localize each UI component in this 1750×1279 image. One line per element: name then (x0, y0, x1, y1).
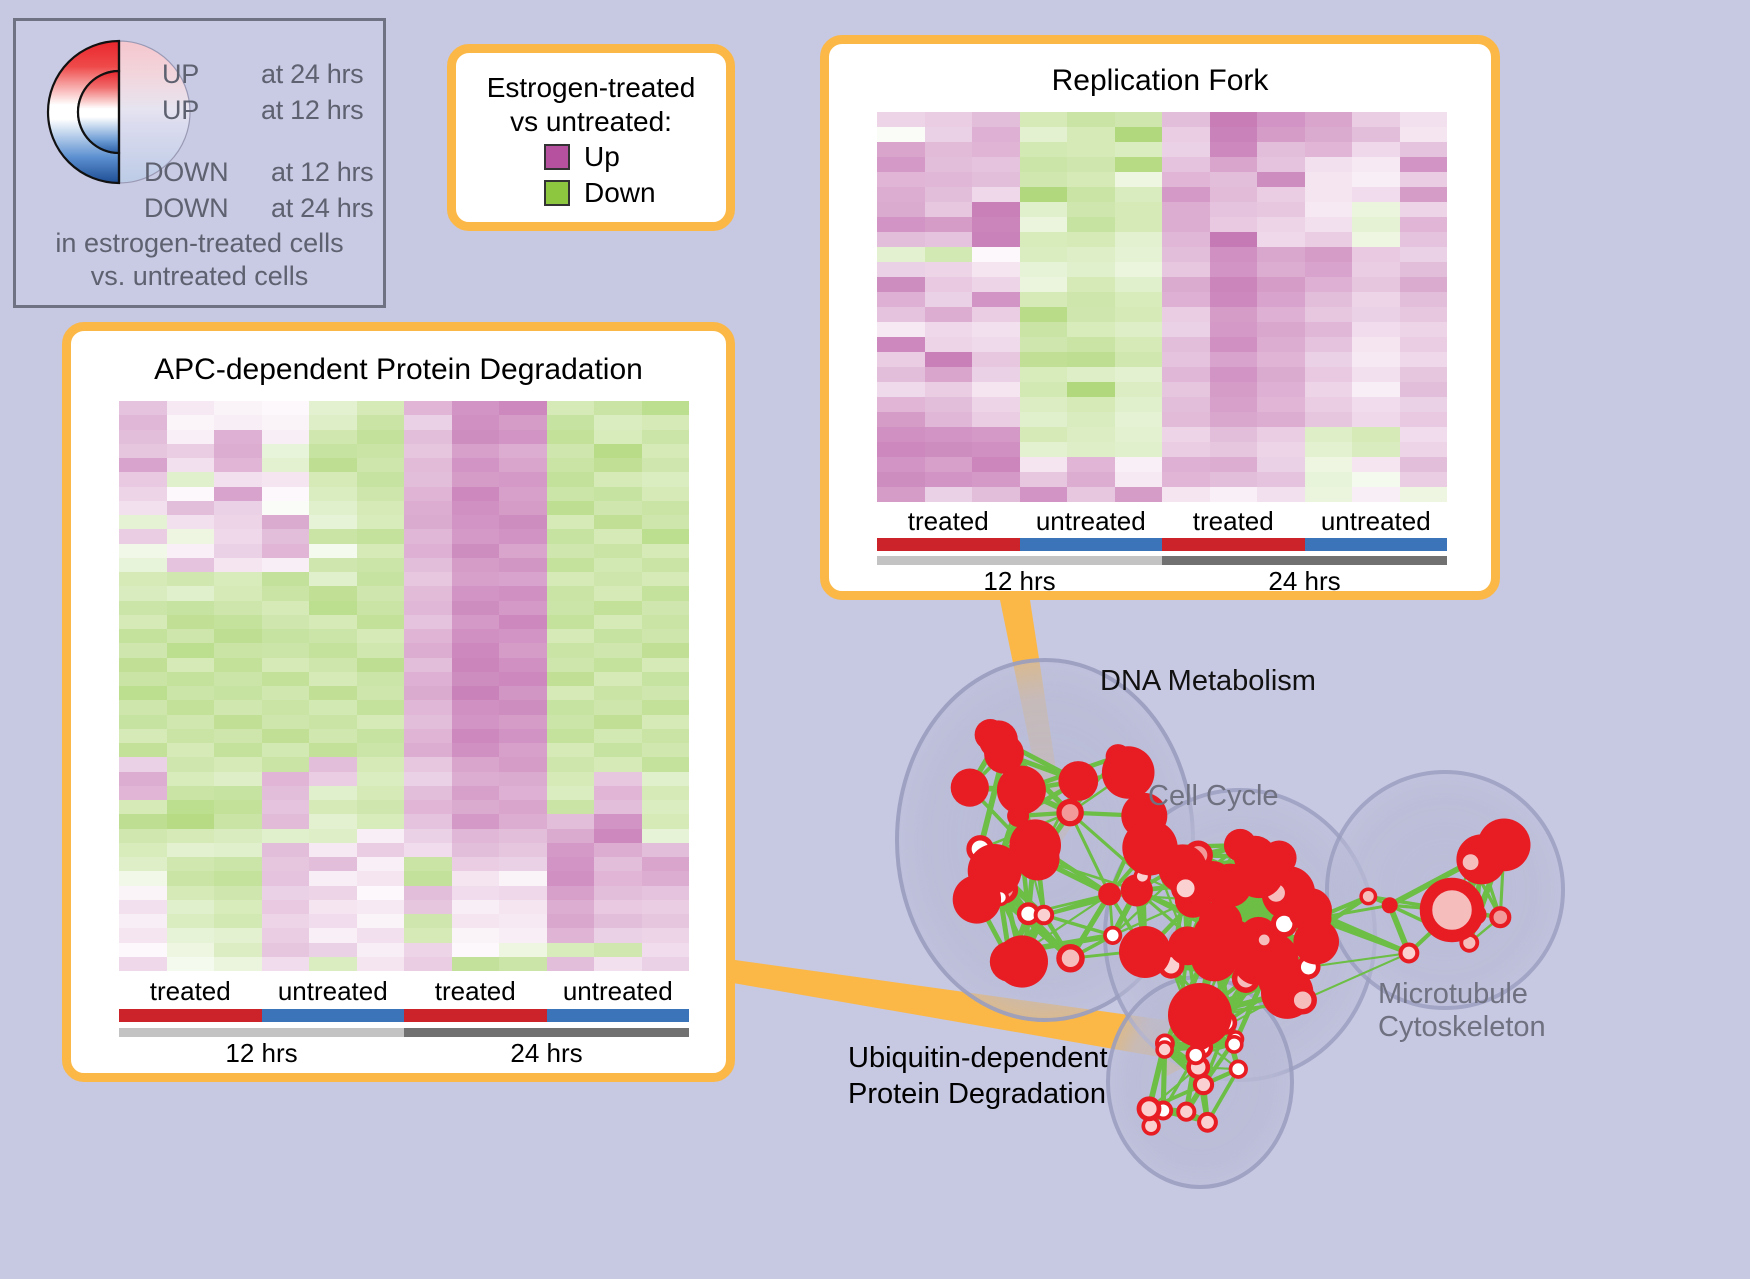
heatmap-cell (262, 515, 310, 529)
heatmap-cell (1067, 307, 1115, 322)
apc-sample-bar (119, 1009, 689, 1022)
sample-group-label: untreated (547, 976, 690, 1007)
heatmap-cell (309, 558, 357, 572)
heatmap-cell (1162, 157, 1210, 172)
heatmap-cell (925, 142, 973, 157)
heatmap-cell (547, 430, 595, 444)
heatmap-cell (1352, 322, 1400, 337)
heatmap-cell (1162, 127, 1210, 142)
heatmap-cell (404, 729, 452, 743)
heatmap-cell (1305, 277, 1353, 292)
heatmap-cell (167, 829, 215, 843)
replication-fork-time-bar (877, 556, 1447, 565)
heatmap-cell (594, 544, 642, 558)
heatmap-cell (262, 572, 310, 586)
heatmap-cell (1210, 307, 1258, 322)
heatmap-cell (1305, 127, 1353, 142)
heatmap-cell (119, 472, 167, 486)
heatmap-cell (119, 871, 167, 885)
heatmap-cell (594, 857, 642, 871)
heatmap-cell (404, 914, 452, 928)
heatmap-cell (119, 843, 167, 857)
heatmap-cell (167, 857, 215, 871)
heatmap-cell (1257, 412, 1305, 427)
heatmap-cell (1257, 202, 1305, 217)
heatmap-cell (1210, 277, 1258, 292)
network-node (1491, 908, 1509, 926)
heatmap-cell (642, 444, 690, 458)
heatmap-cell (594, 928, 642, 942)
heatmap-cell (877, 157, 925, 172)
heatmap-cell (642, 700, 690, 714)
heatmap-cell (594, 871, 642, 885)
sample-group-bar (1162, 538, 1305, 551)
heatmap-cell (262, 772, 310, 786)
sample-group-bar (877, 538, 1020, 551)
heatmap-cell (1305, 322, 1353, 337)
heatmap-cell (1400, 202, 1448, 217)
network-node (1139, 1099, 1159, 1119)
sample-group-bar (1020, 538, 1163, 551)
heatmap-cell (499, 658, 547, 672)
heatmap-cell (309, 529, 357, 543)
heatmap-cell (167, 586, 215, 600)
legend-panel: Estrogen-treated vs untreated: Up Down (447, 44, 735, 231)
heatmap-cell (262, 800, 310, 814)
time-group-label: 12 hrs (119, 1038, 404, 1069)
heatmap-cell (499, 430, 547, 444)
heatmap-cell (309, 715, 357, 729)
heatmap-cell (404, 458, 452, 472)
heatmap-cell (547, 729, 595, 743)
heatmap-cell (594, 601, 642, 615)
heatmap-cell (642, 501, 690, 515)
cluster-label-cell-cycle: Cell Cycle (1148, 780, 1279, 813)
heatmap-cell (404, 643, 452, 657)
heatmap-cell (404, 444, 452, 458)
heatmap-cell (404, 686, 452, 700)
replication-fork-title: Replication Fork (829, 64, 1491, 98)
heatmap-cell (214, 772, 262, 786)
heatmap-cell (119, 857, 167, 871)
heatmap-cell (547, 515, 595, 529)
heatmap-cell (262, 715, 310, 729)
heatmap-cell (119, 643, 167, 657)
heatmap-cell (1115, 277, 1163, 292)
heatmap-cell (1162, 487, 1210, 502)
heatmap-cell (877, 127, 925, 142)
network-node (1119, 926, 1171, 978)
network-node (1007, 805, 1029, 827)
heatmap-cell (1115, 232, 1163, 247)
heatmap-cell (1020, 382, 1068, 397)
heatmap-cell (404, 886, 452, 900)
heatmap-cell (452, 643, 500, 657)
heatmap-cell (877, 142, 925, 157)
heatmap-cell (262, 757, 310, 771)
heatmap-cell (357, 686, 405, 700)
legend-up-label: Up (584, 141, 620, 173)
heatmap-cell (404, 615, 452, 629)
heatmap-cell (357, 914, 405, 928)
heatmap-cell (1400, 307, 1448, 322)
heatmap-cell (972, 352, 1020, 367)
heatmap-cell (404, 800, 452, 814)
heatmap-cell (1352, 487, 1400, 502)
heatmap-cell (452, 529, 500, 543)
heatmap-cell (1257, 442, 1305, 457)
heatmap-cell (357, 586, 405, 600)
heatmap-cell (119, 629, 167, 643)
heatmap-cell (119, 800, 167, 814)
heatmap-cell (119, 458, 167, 472)
heatmap-cell (1210, 292, 1258, 307)
heatmap-cell (357, 772, 405, 786)
heatmap-cell (972, 412, 1020, 427)
heatmap-cell (357, 829, 405, 843)
heatmap-cell (594, 914, 642, 928)
heatmap-cell (1352, 127, 1400, 142)
heatmap-cell (119, 715, 167, 729)
heatmap-cell (547, 928, 595, 942)
heatmap-cell (167, 515, 215, 529)
heatmap-cell (262, 430, 310, 444)
heatmap-cell (1305, 427, 1353, 442)
heatmap-cell (1305, 442, 1353, 457)
heatmap-cell (547, 700, 595, 714)
heatmap-cell (262, 458, 310, 472)
cluster-label-ubiquitin: Ubiquitin-dependent Protein Degradation (848, 1040, 1108, 1112)
heatmap-cell (1162, 277, 1210, 292)
heatmap-cell (1162, 382, 1210, 397)
heatmap-cell (1257, 277, 1305, 292)
heatmap-cell (214, 629, 262, 643)
heatmap-cell (404, 957, 452, 971)
heatmap-cell (452, 572, 500, 586)
replication-fork-heatmap (877, 112, 1447, 502)
network-node (1105, 928, 1120, 943)
heatmap-cell (594, 700, 642, 714)
color-key-box: UP at 24 hrs UP at 12 hrs DOWN at 12 hrs… (13, 18, 386, 308)
heatmap-cell (167, 686, 215, 700)
heatmap-cell (877, 172, 925, 187)
heatmap-cell (594, 672, 642, 686)
network-node (1178, 1104, 1194, 1120)
heatmap-cell (262, 643, 310, 657)
heatmap-cell (404, 415, 452, 429)
heatmap-cell (1400, 247, 1448, 262)
heatmap-cell (1067, 202, 1115, 217)
network-node (1288, 888, 1332, 932)
heatmap-cell (1020, 457, 1068, 472)
network-node (1059, 802, 1081, 824)
heatmap-cell (1400, 322, 1448, 337)
heatmap-cell (119, 572, 167, 586)
network-node (1257, 933, 1271, 947)
heatmap-cell (972, 442, 1020, 457)
heatmap-cell (547, 900, 595, 914)
heatmap-cell (262, 928, 310, 942)
heatmap-cell (1400, 292, 1448, 307)
heatmap-cell (547, 444, 595, 458)
heatmap-cell (404, 501, 452, 515)
heatmap-cell (594, 472, 642, 486)
heatmap-cell (547, 871, 595, 885)
heatmap-cell (594, 757, 642, 771)
heatmap-cell (357, 928, 405, 942)
key-footer: in estrogen-treated cells vs. untreated … (16, 227, 383, 293)
key-time-up-24: at 24 hrs (261, 59, 363, 90)
heatmap-cell (1257, 307, 1305, 322)
heatmap-cell (642, 686, 690, 700)
heatmap-cell (1020, 142, 1068, 157)
heatmap-cell (167, 871, 215, 885)
heatmap-cell (972, 337, 1020, 352)
heatmap-cell (262, 700, 310, 714)
heatmap-cell (404, 487, 452, 501)
heatmap-cell (499, 444, 547, 458)
heatmap-cell (877, 112, 925, 127)
legend-row-down: Down (544, 177, 656, 209)
heatmap-cell (925, 472, 973, 487)
heatmap-cell (499, 715, 547, 729)
heatmap-cell (214, 700, 262, 714)
heatmap-cell (972, 307, 1020, 322)
heatmap-cell (642, 715, 690, 729)
heatmap-cell (404, 601, 452, 615)
heatmap-cell (547, 615, 595, 629)
heatmap-cell (642, 857, 690, 871)
heatmap-cell (404, 700, 452, 714)
heatmap-cell (214, 857, 262, 871)
heatmap-cell (167, 672, 215, 686)
heatmap-cell (1400, 277, 1448, 292)
heatmap-cell (167, 487, 215, 501)
heatmap-cell (1067, 367, 1115, 382)
up-swatch-icon (544, 144, 570, 170)
heatmap-cell (404, 629, 452, 643)
heatmap-cell (262, 786, 310, 800)
heatmap-cell (404, 772, 452, 786)
legend-title: Estrogen-treated vs untreated: (456, 71, 726, 139)
heatmap-cell (1067, 382, 1115, 397)
heatmap-cell (404, 928, 452, 942)
heatmap-cell (547, 786, 595, 800)
heatmap-cell (877, 397, 925, 412)
heatmap-cell (404, 586, 452, 600)
heatmap-cell (357, 515, 405, 529)
heatmap-cell (309, 672, 357, 686)
heatmap-cell (499, 772, 547, 786)
heatmap-cell (452, 957, 500, 971)
heatmap-cell (547, 544, 595, 558)
heatmap-cell (119, 729, 167, 743)
network-diagram: DNA Metabolism Cell Cycle Microtubule Cy… (800, 610, 1750, 1279)
heatmap-cell (1305, 232, 1353, 247)
heatmap-cell (309, 501, 357, 515)
heatmap-cell (357, 572, 405, 586)
heatmap-cell (547, 558, 595, 572)
heatmap-cell (167, 430, 215, 444)
heatmap-cell (167, 415, 215, 429)
heatmap-cell (309, 458, 357, 472)
heatmap-cell (404, 572, 452, 586)
heatmap-cell (1020, 172, 1068, 187)
heatmap-cell (925, 187, 973, 202)
heatmap-cell (594, 401, 642, 415)
heatmap-cell (452, 458, 500, 472)
heatmap-cell (357, 900, 405, 914)
heatmap-cell (1115, 322, 1163, 337)
heatmap-cell (499, 601, 547, 615)
heatmap-cell (1162, 217, 1210, 232)
heatmap-cell (404, 672, 452, 686)
heatmap-cell (1162, 292, 1210, 307)
heatmap-cell (214, 444, 262, 458)
heatmap-cell (309, 629, 357, 643)
heatmap-cell (167, 472, 215, 486)
heatmap-cell (262, 529, 310, 543)
heatmap-cell (594, 501, 642, 515)
heatmap-cell (642, 871, 690, 885)
heatmap-cell (309, 487, 357, 501)
heatmap-cell (594, 715, 642, 729)
heatmap-cell (499, 672, 547, 686)
heatmap-cell (357, 529, 405, 543)
heatmap-cell (594, 458, 642, 472)
heatmap-cell (1305, 247, 1353, 262)
heatmap-cell (499, 401, 547, 415)
heatmap-cell (262, 444, 310, 458)
heatmap-cell (1305, 472, 1353, 487)
sample-group-bar (1305, 538, 1448, 551)
heatmap-cell (262, 914, 310, 928)
heatmap-cell (262, 629, 310, 643)
heatmap-cell (1305, 487, 1353, 502)
heatmap-cell (594, 515, 642, 529)
heatmap-cell (499, 729, 547, 743)
heatmap-cell (1067, 247, 1115, 262)
heatmap-cell (1400, 382, 1448, 397)
time-group-label: 12 hrs (877, 566, 1162, 597)
heatmap-cell (972, 172, 1020, 187)
heatmap-cell (1067, 187, 1115, 202)
heatmap-cell (357, 501, 405, 515)
time-group-bar (877, 556, 1162, 565)
heatmap-cell (167, 700, 215, 714)
heatmap-cell (499, 800, 547, 814)
heatmap-cell (642, 743, 690, 757)
heatmap-cell (404, 871, 452, 885)
heatmap-cell (404, 943, 452, 957)
heatmap-cell (925, 457, 973, 472)
heatmap-cell (547, 743, 595, 757)
network-node (1174, 877, 1198, 901)
heatmap-cell (547, 757, 595, 771)
heatmap-cell (452, 814, 500, 828)
heatmap-cell (309, 544, 357, 558)
heatmap-cell (357, 743, 405, 757)
heatmap-cell (1162, 142, 1210, 157)
heatmap-cell (167, 658, 215, 672)
heatmap-cell (167, 900, 215, 914)
heatmap-cell (925, 397, 973, 412)
heatmap-cell (547, 829, 595, 843)
heatmap-cell (357, 615, 405, 629)
heatmap-cell (499, 786, 547, 800)
heatmap-cell (214, 829, 262, 843)
heatmap-cell (309, 572, 357, 586)
heatmap-cell (925, 172, 973, 187)
heatmap-cell (925, 352, 973, 367)
heatmap-cell (1115, 412, 1163, 427)
heatmap-cell (1257, 232, 1305, 247)
heatmap-cell (167, 800, 215, 814)
heatmap-cell (642, 487, 690, 501)
heatmap-cell (404, 401, 452, 415)
heatmap-cell (167, 943, 215, 957)
heatmap-cell (1115, 247, 1163, 262)
heatmap-cell (1257, 142, 1305, 157)
heatmap-cell (1305, 172, 1353, 187)
heatmap-cell (214, 729, 262, 743)
heatmap-cell (262, 472, 310, 486)
heatmap-cell (1067, 322, 1115, 337)
heatmap-cell (1115, 187, 1163, 202)
heatmap-cell (1162, 247, 1210, 262)
heatmap-cell (1020, 217, 1068, 232)
heatmap-cell (642, 472, 690, 486)
heatmap-cell (1305, 262, 1353, 277)
heatmap-cell (262, 686, 310, 700)
heatmap-cell (547, 658, 595, 672)
heatmap-cell (1210, 172, 1258, 187)
heatmap-cell (404, 857, 452, 871)
heatmap-cell (1257, 172, 1305, 187)
heatmap-cell (1115, 262, 1163, 277)
heatmap-cell (452, 928, 500, 942)
heatmap-cell (1020, 292, 1068, 307)
heatmap-cell (1352, 412, 1400, 427)
heatmap-cell (309, 843, 357, 857)
network-node (1227, 1037, 1242, 1052)
heatmap-cell (1020, 202, 1068, 217)
heatmap-cell (1257, 487, 1305, 502)
heatmap-cell (1400, 187, 1448, 202)
heatmap-cell (214, 401, 262, 415)
heatmap-cell (1352, 172, 1400, 187)
heatmap-cell (167, 715, 215, 729)
heatmap-cell (119, 772, 167, 786)
heatmap-cell (262, 729, 310, 743)
heatmap-cell (972, 457, 1020, 472)
heatmap-cell (167, 629, 215, 643)
heatmap-cell (452, 544, 500, 558)
heatmap-cell (214, 586, 262, 600)
sample-group-label: untreated (262, 976, 405, 1007)
heatmap-cell (119, 786, 167, 800)
heatmap-cell (499, 544, 547, 558)
heatmap-cell (877, 442, 925, 457)
heatmap-cell (452, 501, 500, 515)
heatmap-cell (1115, 427, 1163, 442)
heatmap-cell (404, 529, 452, 543)
heatmap-cell (357, 601, 405, 615)
heatmap-cell (1257, 127, 1305, 142)
heatmap-cell (452, 487, 500, 501)
heatmap-cell (642, 943, 690, 957)
heatmap-cell (1400, 262, 1448, 277)
